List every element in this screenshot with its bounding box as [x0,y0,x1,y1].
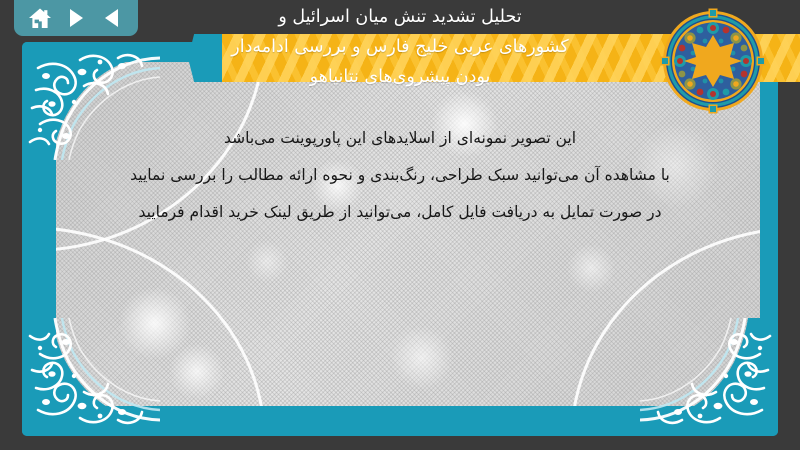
decorative-arc-bottom-left [56,226,266,406]
body-line-2: با مشاهده آن می‌توانید سبک طراحی، رنگ‌بن… [52,157,748,194]
persian-medallion-ornament [660,8,766,114]
back-button[interactable] [97,5,127,31]
home-icon [28,7,52,30]
body-line-3: در صورت تمایل به دریافت فایل کامل، می‌تو… [52,194,748,231]
forward-button[interactable] [61,5,91,31]
banner-arrow-tail [188,34,222,82]
slide-content-panel [56,62,760,406]
triangle-right-icon [67,8,85,28]
home-button[interactable] [25,5,55,31]
body-line-1: این تصویر نمونه‌ای از اسلایدهای این پاور… [52,120,748,157]
decorative-arc-bottom-right [570,226,760,406]
slide-body-text: این تصویر نمونه‌ای از اسلایدهای این پاور… [22,120,778,231]
triangle-left-icon [103,8,121,28]
navigation-bar [14,0,138,36]
slide-preview-stage: این تصویر نمونه‌ای از اسلایدهای این پاور… [0,0,800,450]
